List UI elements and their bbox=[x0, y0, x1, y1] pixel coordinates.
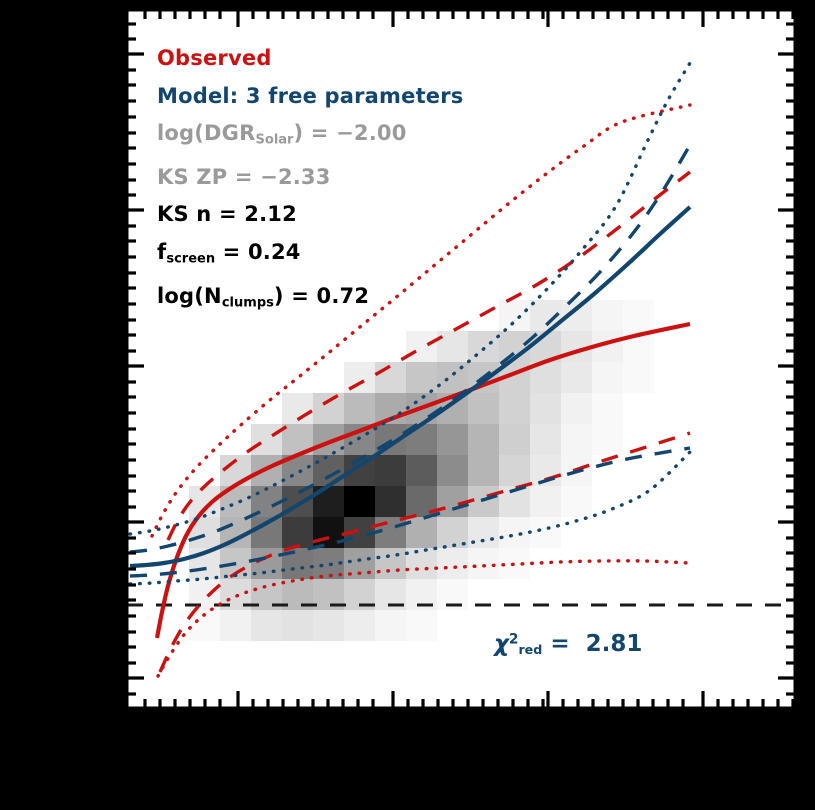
chi-superscript: 2 bbox=[509, 631, 519, 647]
heatmap-cell bbox=[406, 610, 437, 641]
heatmap-cell bbox=[437, 455, 468, 486]
heatmap-cell bbox=[468, 424, 499, 455]
heatmap-cell bbox=[468, 455, 499, 486]
heatmap-cell bbox=[561, 424, 592, 455]
heatmap-cell bbox=[623, 300, 654, 331]
heatmap-cell bbox=[220, 610, 251, 641]
param-dgr-text: log(DGRSolar) = −2.00 bbox=[157, 121, 407, 145]
heatmap-cell bbox=[499, 393, 530, 424]
heatmap-cell bbox=[592, 300, 623, 331]
heatmap-cell bbox=[251, 424, 282, 455]
heatmap-cell bbox=[561, 393, 592, 424]
heatmap-cell bbox=[344, 486, 375, 517]
legend-model: Model: 3 free parameters bbox=[157, 78, 577, 116]
heatmap-cell bbox=[530, 486, 561, 517]
heatmap-cell bbox=[251, 610, 282, 641]
heatmap-cell bbox=[375, 455, 406, 486]
heatmap-cell bbox=[406, 331, 437, 362]
heatmap-cell bbox=[313, 610, 344, 641]
heatmap-cell bbox=[437, 362, 468, 393]
heatmap-cell bbox=[468, 548, 499, 579]
heatmap-cell bbox=[530, 424, 561, 455]
heatmap-cell bbox=[437, 548, 468, 579]
heatmap-cell bbox=[623, 362, 654, 393]
heatmap-cell bbox=[530, 517, 561, 548]
heatmap-cell bbox=[592, 362, 623, 393]
heatmap-cell bbox=[437, 424, 468, 455]
heatmap-cell bbox=[406, 548, 437, 579]
legend-param-dgr: log(DGRSolar) = −2.00 bbox=[157, 115, 577, 159]
legend-block: Observed Model: 3 free parameters log(DG… bbox=[157, 40, 577, 321]
chi-symbol: χ bbox=[494, 631, 509, 657]
heatmap-cell bbox=[468, 331, 499, 362]
heatmap-cell bbox=[530, 393, 561, 424]
heatmap-cell bbox=[499, 455, 530, 486]
heatmap-cell bbox=[592, 393, 623, 424]
figure-canvas: Observed Model: 3 free parameters log(DG… bbox=[0, 0, 815, 810]
heatmap-cell bbox=[375, 548, 406, 579]
heatmap-cell bbox=[406, 455, 437, 486]
chi-value: 2.81 bbox=[586, 631, 643, 657]
param-fscreen-text: fscreen = 0.24 bbox=[157, 240, 301, 264]
heatmap-cell bbox=[282, 517, 313, 548]
legend-observed: Observed bbox=[157, 40, 577, 78]
param-nclumps-text: log(Nclumps) = 0.72 bbox=[157, 284, 369, 308]
heatmap-cell bbox=[561, 362, 592, 393]
legend-param-ksz: KS ZP = −2.33 bbox=[157, 159, 577, 197]
chi-squared-annotation: χ2red = 2.81 bbox=[494, 631, 642, 657]
legend-param-ksn: KS n = 2.12 bbox=[157, 196, 577, 234]
heatmap-cell bbox=[375, 486, 406, 517]
chi-subscript: red bbox=[518, 642, 542, 657]
heatmap-cell bbox=[406, 362, 437, 393]
heatmap-cell bbox=[499, 424, 530, 455]
heatmap-cell bbox=[282, 610, 313, 641]
heatmap-cell bbox=[344, 393, 375, 424]
legend-param-fscreen: fscreen = 0.24 bbox=[157, 234, 577, 278]
heatmap-cell bbox=[375, 610, 406, 641]
param-ksz-text: KS ZP = −2.33 bbox=[157, 165, 331, 189]
legend-param-nclumps: log(Nclumps) = 0.72 bbox=[157, 278, 577, 322]
heatmap-cell bbox=[375, 362, 406, 393]
heatmap-cell bbox=[344, 610, 375, 641]
param-ksn-text: KS n = 2.12 bbox=[157, 202, 297, 226]
heatmap-cell bbox=[561, 486, 592, 517]
heatmap-cell bbox=[313, 393, 344, 424]
heatmap-cell bbox=[468, 393, 499, 424]
heatmap-cell bbox=[592, 424, 623, 455]
heatmap-cell bbox=[499, 517, 530, 548]
chi-equals: = bbox=[550, 631, 569, 657]
